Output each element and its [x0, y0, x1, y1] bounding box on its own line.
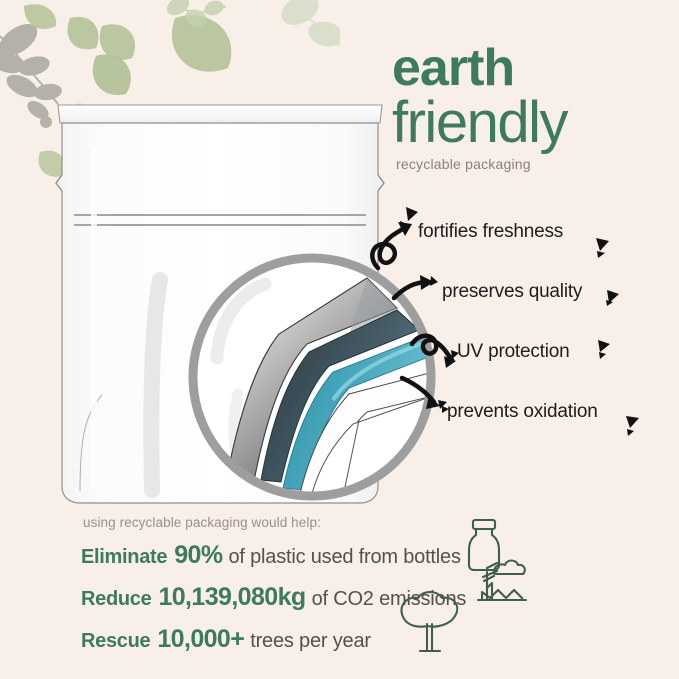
spark-marks-uv [451, 340, 610, 359]
feature-label-prevents-oxidation: prevents oxidation [447, 401, 598, 423]
spark-marks-quality [430, 276, 619, 306]
feature-label-uv-protection: UV protection [457, 341, 570, 363]
spark-marks-oxidation [438, 400, 639, 436]
stat-tail: of CO2 emissions [312, 588, 467, 611]
stat-row-rescue: Rescue 10,000+ trees per year [81, 625, 621, 654]
stats-block: using recyclable packaging would help: E… [81, 515, 621, 667]
magnifier-circle [183, 248, 441, 506]
feature-label-fortifies-freshness: fortifies freshness [418, 221, 563, 243]
stat-row-reduce: Reduce 10,139,080kg of CO2 emissions [81, 583, 621, 612]
infographic-canvas: fortifies freshness preserves quality UV… [0, 0, 679, 679]
pouch-top-seal [58, 105, 382, 123]
stat-tail: of plastic used from bottles [228, 546, 460, 569]
stat-tail: trees per year [250, 630, 371, 653]
leaf-group-right [276, 0, 340, 50]
headline-block: earth friendly recyclable packaging [392, 44, 674, 172]
stat-value: 90% [174, 541, 222, 570]
stat-verb: Eliminate [81, 546, 167, 569]
headline-line-earth: earth [392, 44, 674, 94]
leaf-sprig-top [164, 0, 226, 29]
pouch-gusset-left [151, 280, 160, 490]
headline-line-friendly: friendly [392, 94, 674, 152]
stat-value: 10,000+ [157, 625, 244, 654]
stat-row-eliminate: Eliminate 90% of plastic used from bottl… [81, 541, 621, 570]
stats-lead-text: using recyclable packaging would help: [83, 515, 621, 530]
stat-verb: Reduce [81, 588, 151, 611]
stat-verb: Rescue [81, 630, 150, 653]
stat-value: 10,139,080kg [158, 583, 305, 612]
feature-label-preserves-quality: preserves quality [442, 281, 582, 303]
headline-subtitle: recyclable packaging [396, 156, 674, 172]
